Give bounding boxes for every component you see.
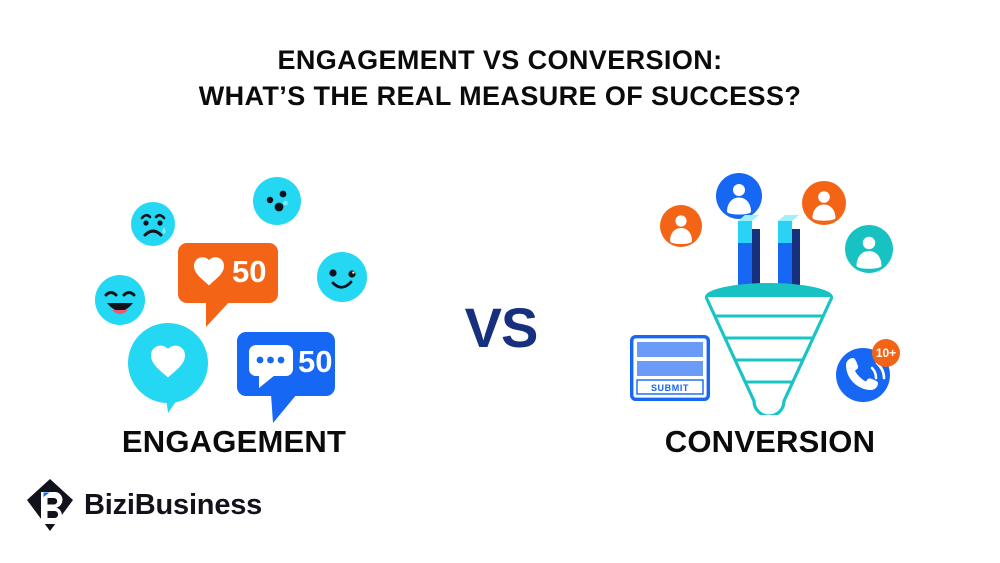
page-title: ENGAGEMENT VS CONVERSION: WHAT’S THE REA… xyxy=(0,42,1000,114)
submit-form[interactable]: SUBMIT xyxy=(630,335,710,406)
sad-face-emoji xyxy=(130,201,176,247)
caption-conversion: CONVERSION xyxy=(600,424,940,460)
laughing-face-emoji xyxy=(94,274,146,326)
funnel-magnet-group xyxy=(702,215,847,415)
surprised-face-emoji xyxy=(252,176,302,226)
versus-label: VS xyxy=(455,299,547,357)
like-count: 50 xyxy=(232,252,266,292)
call-count-badge: 10+ xyxy=(872,345,900,361)
title-line-1: ENGAGEMENT VS CONVERSION: xyxy=(0,42,1000,78)
title-line-2: WHAT’S THE REAL MEASURE OF SUCCESS? xyxy=(0,78,1000,114)
avatar-blue-top xyxy=(716,173,762,219)
call-badge[interactable]: 10+ xyxy=(832,338,902,409)
infographic-canvas: ENGAGEMENT VS CONVERSION: WHAT’S THE REA… xyxy=(0,0,1000,563)
funnel-icon xyxy=(705,283,833,415)
avatar-teal-right xyxy=(845,225,893,273)
engagement-illustration: 50 50 xyxy=(80,165,390,415)
brand-mark-icon xyxy=(26,478,74,532)
form-field-1 xyxy=(637,342,703,357)
smiling-face-emoji xyxy=(316,251,368,303)
brand-logo[interactable]: BiziBusiness xyxy=(26,478,262,532)
brand-name: BiziBusiness xyxy=(84,490,262,520)
caption-engagement: ENGAGEMENT xyxy=(64,424,404,460)
form-field-2 xyxy=(637,361,703,376)
conversion-illustration: SUBMIT 10+ xyxy=(620,160,930,415)
comment-badge[interactable]: 50 xyxy=(237,332,345,432)
avatar-orange-left xyxy=(660,205,702,247)
comment-count: 50 xyxy=(298,342,332,382)
submit-button-label[interactable]: SUBMIT xyxy=(630,382,710,394)
heart-bubble-icon xyxy=(128,323,214,415)
